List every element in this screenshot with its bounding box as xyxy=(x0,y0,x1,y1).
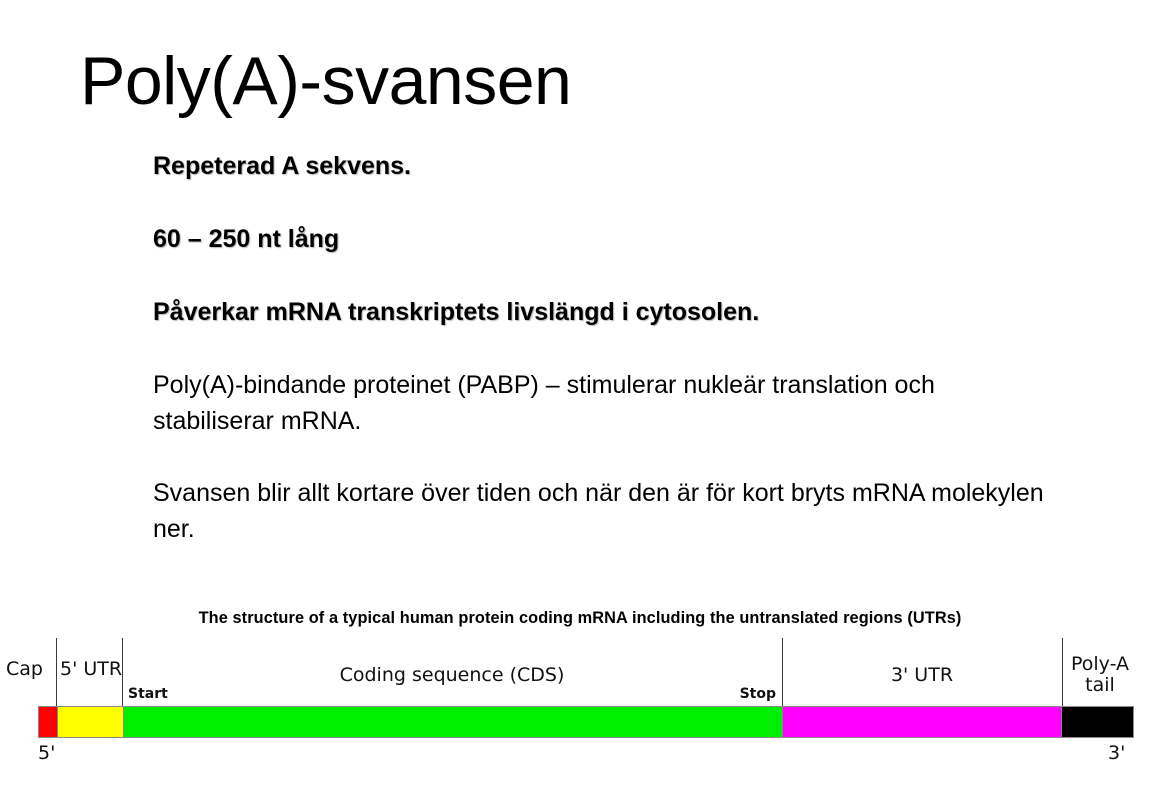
page-title: Poly(A)-svansen xyxy=(80,42,571,120)
mrna-structure-figure: The structure of a typical human protein… xyxy=(0,596,1160,776)
slide-body: Repeterad A sekvens. 60 – 250 nt lång På… xyxy=(153,148,1053,547)
segment-cap xyxy=(39,707,57,737)
bullet-tail-shortening: Svansen blir allt kortare över tiden och… xyxy=(153,475,1053,547)
label-start-codon: Start xyxy=(128,686,168,702)
bullet-mrna-lifetime: Påverkar mRNA transkriptets livslängd i … xyxy=(153,294,1053,330)
label-five-utr: 5' UTR xyxy=(60,658,122,680)
bullet-length-range: 60 – 250 nt lång xyxy=(153,221,1053,257)
segment-five-utr xyxy=(57,707,123,737)
divider-3utr-polya xyxy=(1062,638,1063,706)
segment-poly-a-tail xyxy=(1061,707,1133,737)
label-three-utr: 3' UTR xyxy=(782,664,1062,686)
label-cap: Cap xyxy=(6,658,43,680)
segment-three-utr xyxy=(782,707,1062,737)
label-poly-a-tail: Poly-A tail xyxy=(1064,654,1136,696)
label-five-prime-end: 5' xyxy=(38,742,55,764)
divider-cap-5utr xyxy=(56,638,57,706)
label-coding-sequence: Coding sequence (CDS) xyxy=(122,664,782,686)
bullet-repeterad-a-sekvens: Repeterad A sekvens. xyxy=(153,148,1053,184)
figure-caption: The structure of a typical human protein… xyxy=(23,608,1137,628)
label-three-prime-end: 3' xyxy=(1108,742,1125,764)
mrna-bar xyxy=(38,706,1134,738)
segment-cds xyxy=(123,707,782,737)
bullet-pabp: Poly(A)-bindande proteinet (PABP) – stim… xyxy=(153,367,1053,439)
label-stop-codon: Stop xyxy=(692,686,776,702)
